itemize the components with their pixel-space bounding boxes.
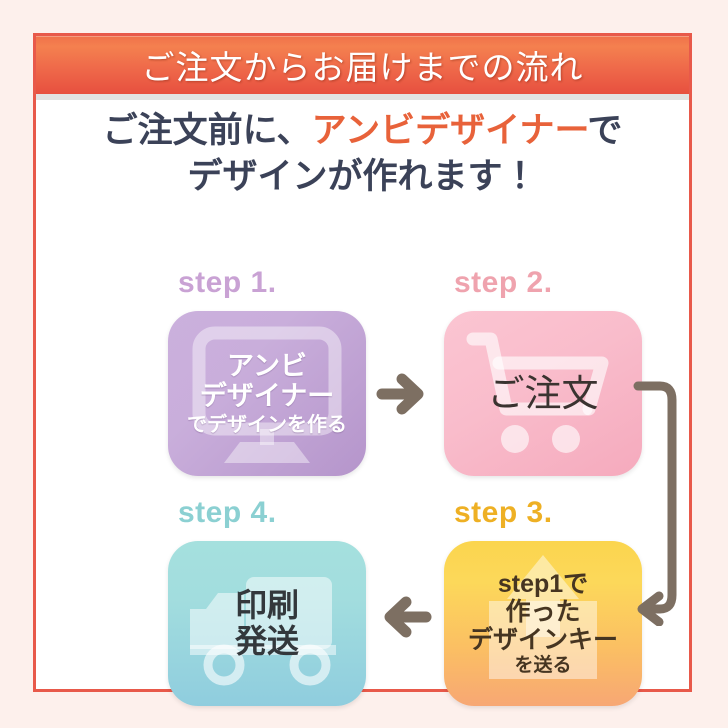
- step-label-3: step 3.: [454, 496, 553, 530]
- step1-line-2: デザイナー: [200, 381, 334, 411]
- step4-line-1: 印刷: [235, 588, 299, 624]
- step4-line-2: 発送: [235, 624, 299, 660]
- subtitle-block: ご注文前に、アンビデザイナーで デザインが作れます！: [36, 108, 689, 199]
- header-bar: ご注文からお届けまでの流れ: [36, 36, 689, 94]
- step1-line-1: アンビ: [227, 351, 307, 381]
- step3-line-2: 作った: [505, 598, 580, 626]
- subtitle-line-1: ご注文前に、アンビデザイナーで: [36, 108, 689, 154]
- header-underline: [36, 94, 689, 100]
- step-label-4: step 4.: [178, 496, 277, 530]
- step3-line-1: step1で: [498, 570, 588, 598]
- content-panel: ご注文からお届けまでの流れ ご注文前に、アンビデザイナーで デザインが作れます！…: [33, 33, 692, 692]
- step-card-3[interactable]: step1で 作った デザインキー を送る: [444, 541, 642, 706]
- arrow-right-icon: [374, 364, 434, 424]
- step-card-4-caption: 印刷 発送: [168, 541, 366, 706]
- step-label-2: step 2.: [454, 266, 553, 300]
- step-card-2[interactable]: ご注文: [444, 311, 642, 476]
- step-card-3-caption: step1で 作った デザインキー を送る: [444, 541, 642, 706]
- page-title: ご注文からお届けまでの流れ: [142, 41, 584, 89]
- subtitle-highlight: アンビデザイナー: [312, 111, 588, 150]
- step-card-2-caption: ご注文: [444, 311, 642, 476]
- step3-line-4: を送る: [514, 655, 571, 676]
- step-label-1: step 1.: [178, 266, 277, 300]
- arrow-left-icon: [374, 587, 434, 647]
- subtitle-text-before: ご注文前に、: [103, 111, 312, 150]
- subtitle-line-2: デザインが作れます！: [36, 154, 689, 200]
- step-card-1-caption: アンビ デザイナー でデザインを作る: [168, 311, 366, 476]
- step-card-1[interactable]: アンビ デザイナー でデザインを作る: [168, 311, 366, 476]
- step3-line-3: デザインキー: [468, 626, 618, 654]
- subtitle-text-after: で: [587, 111, 622, 150]
- step2-line-1: ご注文: [488, 373, 599, 414]
- step1-line-3: でデザインを作る: [187, 414, 347, 436]
- arrow-hook-down-left-icon: [632, 371, 702, 626]
- step-card-4[interactable]: 印刷 発送: [168, 541, 366, 706]
